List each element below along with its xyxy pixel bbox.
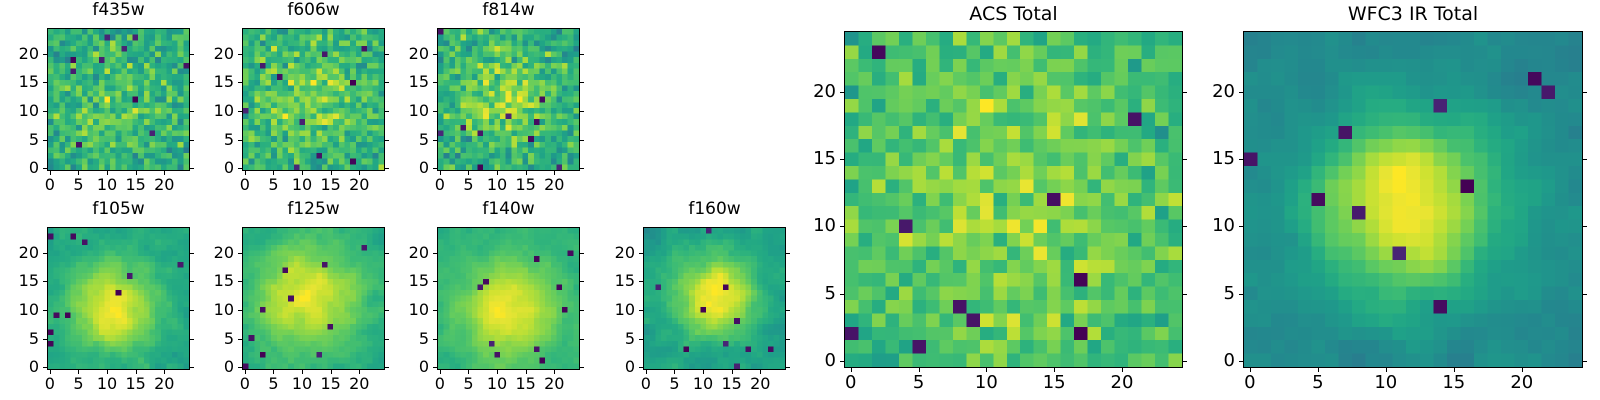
y-axis-tick: [433, 253, 437, 254]
y-axis-tick-label: 0: [1197, 352, 1235, 370]
y-axis-tick-label: 0: [391, 160, 429, 176]
x-axis-tick-label: 20: [154, 376, 174, 392]
x-axis-tick-label: 10: [693, 376, 713, 392]
x-axis-tick-label: 15: [320, 177, 340, 193]
heatmap-canvas: [438, 29, 579, 170]
y-axis-tick-label: 0: [196, 160, 234, 176]
y-axis-tick-label: 15: [1, 74, 39, 90]
y-axis-tick: [639, 281, 643, 282]
y-axis-tick-label: 10: [1, 302, 39, 318]
y-axis-tick: [238, 140, 242, 141]
y-axis-tick: [840, 226, 844, 227]
x-axis-tick-label: 15: [515, 177, 535, 193]
x-axis-tick-label: 10: [97, 177, 117, 193]
x-axis-tick-label: 10: [487, 177, 507, 193]
x-axis-tick-label: 0: [240, 376, 250, 392]
y-axis-tick: [840, 92, 844, 93]
heatmap-panel-f125w: f125w0510152005101520: [196, 201, 391, 396]
y-axis-tick: [639, 339, 643, 340]
y-axis-tick-right: [786, 367, 790, 368]
panel-title: f435w: [47, 2, 190, 19]
x-axis-tick-label: 15: [1043, 374, 1066, 392]
heatmap-canvas: [243, 29, 384, 170]
y-axis-tick: [43, 140, 47, 141]
y-axis-tick: [238, 281, 242, 282]
panel-title: f160w: [643, 201, 786, 218]
y-axis-tick-right: [385, 367, 389, 368]
heatmap-panel-wfc3-ir-total: WFC3 IR Total0510152005101520: [1197, 5, 1589, 394]
x-axis-tick-label: 20: [1111, 374, 1134, 392]
heatmap-image: [47, 227, 190, 370]
y-axis-tick: [1239, 294, 1243, 295]
heatmap-image: [242, 227, 385, 370]
y-axis-tick: [43, 310, 47, 311]
heatmap-canvas: [1244, 32, 1582, 367]
y-axis-tick-right: [190, 367, 194, 368]
heatmap-image: [242, 28, 385, 171]
y-axis-tick: [238, 82, 242, 83]
x-axis-tick-label: 0: [435, 177, 445, 193]
y-axis-tick-label: 5: [1, 331, 39, 347]
x-axis-tick-label: 5: [73, 177, 83, 193]
y-axis-tick: [1239, 159, 1243, 160]
y-axis-tick-label: 10: [196, 103, 234, 119]
y-axis-tick: [1239, 92, 1243, 93]
y-axis-tick-label: 20: [196, 245, 234, 261]
y-axis-tick: [433, 168, 437, 169]
y-axis-tick-label: 5: [196, 331, 234, 347]
y-axis-tick-label: 15: [1, 273, 39, 289]
y-axis-tick: [43, 253, 47, 254]
y-axis-tick: [43, 82, 47, 83]
heatmap-canvas: [243, 228, 384, 369]
y-axis-tick-label: 20: [1, 46, 39, 62]
heatmap-panel-f140w: f140w0510152005101520: [391, 201, 586, 396]
y-axis-tick-right: [786, 281, 790, 282]
x-axis-tick-label: 5: [463, 376, 473, 392]
y-axis-tick: [43, 367, 47, 368]
x-axis-tick-label: 15: [125, 177, 145, 193]
y-axis-tick-right: [190, 339, 194, 340]
y-axis-tick-right: [580, 253, 584, 254]
heatmap-image: [437, 28, 580, 171]
y-axis-tick: [433, 140, 437, 141]
y-axis-tick: [1239, 226, 1243, 227]
heatmap-panel-f105w: f105w0510152005101520: [1, 201, 196, 396]
x-axis-tick-label: 10: [292, 177, 312, 193]
y-axis-tick-label: 0: [1, 359, 39, 375]
y-axis-tick-right: [385, 281, 389, 282]
panel-title: ACS Total: [844, 5, 1183, 24]
x-axis-tick-label: 0: [45, 177, 55, 193]
y-axis-tick-right: [190, 310, 194, 311]
y-axis-tick-right: [190, 253, 194, 254]
y-axis-tick: [840, 361, 844, 362]
y-axis-tick: [238, 339, 242, 340]
heatmap-panel-f160w: f160w0510152005101520: [597, 201, 792, 396]
y-axis-tick-right: [190, 140, 194, 141]
y-axis-tick-right: [385, 310, 389, 311]
x-axis-tick-label: 20: [154, 177, 174, 193]
y-axis-tick-label: 0: [798, 352, 836, 370]
x-axis-tick-label: 5: [913, 374, 924, 392]
y-axis-tick: [433, 82, 437, 83]
y-axis-tick-label: 0: [1, 160, 39, 176]
y-axis-tick: [433, 310, 437, 311]
panel-title: f105w: [47, 201, 190, 218]
y-axis-tick-label: 10: [1, 103, 39, 119]
y-axis-tick: [43, 281, 47, 282]
heatmap-canvas: [644, 228, 785, 369]
heatmap-image: [844, 31, 1183, 368]
y-axis-tick-label: 5: [1, 132, 39, 148]
y-axis-tick-label: 5: [391, 331, 429, 347]
y-axis-tick-right: [190, 82, 194, 83]
y-axis-tick: [433, 281, 437, 282]
y-axis-tick-label: 20: [1197, 83, 1235, 101]
y-axis-tick: [639, 253, 643, 254]
y-axis-tick-right: [385, 253, 389, 254]
y-axis-tick-label: 5: [196, 132, 234, 148]
y-axis-tick-right: [580, 111, 584, 112]
y-axis-tick-label: 15: [391, 273, 429, 289]
y-axis-tick-label: 20: [391, 245, 429, 261]
heatmap-image: [643, 227, 786, 370]
y-axis-tick-right: [1183, 294, 1187, 295]
y-axis-tick-right: [580, 367, 584, 368]
y-axis-tick-right: [385, 140, 389, 141]
heatmap-image: [47, 28, 190, 171]
heatmap-canvas: [48, 29, 189, 170]
y-axis-tick-right: [580, 140, 584, 141]
figure-canvas: f435w0510152005101520f606w05101520051015…: [0, 0, 1600, 400]
y-axis-tick: [433, 367, 437, 368]
heatmap-panel-f814w: f814w0510152005101520: [391, 2, 586, 197]
y-axis-tick-right: [190, 111, 194, 112]
x-axis-tick-label: 0: [641, 376, 651, 392]
y-axis-tick-label: 5: [391, 132, 429, 148]
y-axis-tick: [433, 54, 437, 55]
panel-title: f125w: [242, 201, 385, 218]
y-axis-tick-label: 10: [597, 302, 635, 318]
x-axis-tick-label: 10: [975, 374, 998, 392]
y-axis-tick: [43, 339, 47, 340]
y-axis-tick-right: [385, 168, 389, 169]
y-axis-tick-right: [1583, 226, 1587, 227]
x-axis-tick-label: 15: [721, 376, 741, 392]
y-axis-tick-right: [385, 54, 389, 55]
y-axis-tick: [238, 310, 242, 311]
y-axis-tick-label: 20: [391, 46, 429, 62]
x-axis-tick-label: 0: [45, 376, 55, 392]
y-axis-tick: [238, 253, 242, 254]
y-axis-tick-label: 5: [597, 331, 635, 347]
x-axis-tick-label: 5: [1312, 374, 1323, 392]
y-axis-tick-right: [786, 310, 790, 311]
y-axis-tick-right: [385, 82, 389, 83]
x-axis-tick-label: 20: [750, 376, 770, 392]
y-axis-tick-right: [580, 54, 584, 55]
heatmap-canvas: [438, 228, 579, 369]
x-axis-tick-label: 5: [669, 376, 679, 392]
y-axis-tick-right: [1583, 361, 1587, 362]
y-axis-tick: [433, 111, 437, 112]
y-axis-tick-right: [1583, 159, 1587, 160]
y-axis-tick-right: [580, 82, 584, 83]
heatmap-panel-f435w: f435w0510152005101520: [1, 2, 196, 197]
y-axis-tick-right: [190, 54, 194, 55]
x-axis-tick-label: 10: [97, 376, 117, 392]
y-axis-tick-right: [580, 168, 584, 169]
y-axis-tick: [840, 159, 844, 160]
y-axis-tick: [639, 310, 643, 311]
y-axis-tick-label: 10: [196, 302, 234, 318]
y-axis-tick-label: 15: [597, 273, 635, 289]
y-axis-tick-label: 20: [597, 245, 635, 261]
y-axis-tick-right: [580, 281, 584, 282]
y-axis-tick-label: 5: [1197, 285, 1235, 303]
y-axis-tick-right: [580, 339, 584, 340]
x-axis-tick-label: 15: [1442, 374, 1465, 392]
y-axis-tick-label: 10: [798, 217, 836, 235]
y-axis-tick: [840, 294, 844, 295]
y-axis-tick: [43, 54, 47, 55]
x-axis-tick-label: 0: [845, 374, 856, 392]
y-axis-tick-label: 15: [391, 74, 429, 90]
heatmap-panel-f606w: f606w0510152005101520: [196, 2, 391, 197]
heatmap-panel-acs-total: ACS Total0510152005101520: [798, 5, 1189, 394]
panel-title: f606w: [242, 2, 385, 19]
y-axis-tick-label: 10: [391, 302, 429, 318]
y-axis-tick-label: 0: [597, 359, 635, 375]
y-axis-tick-right: [1183, 226, 1187, 227]
x-axis-tick-label: 15: [515, 376, 535, 392]
x-axis-tick-label: 10: [1374, 374, 1397, 392]
y-axis-tick: [238, 111, 242, 112]
x-axis-tick-label: 5: [73, 376, 83, 392]
x-axis-tick-label: 0: [1244, 374, 1255, 392]
y-axis-tick: [238, 168, 242, 169]
y-axis-tick-right: [1183, 92, 1187, 93]
y-axis-tick-label: 15: [196, 273, 234, 289]
y-axis-tick-right: [385, 111, 389, 112]
panel-title: f814w: [437, 2, 580, 19]
y-axis-tick: [43, 168, 47, 169]
y-axis-tick-label: 10: [1197, 217, 1235, 235]
y-axis-tick-right: [385, 339, 389, 340]
y-axis-tick: [1239, 361, 1243, 362]
y-axis-tick-right: [190, 281, 194, 282]
heatmap-canvas: [48, 228, 189, 369]
y-axis-tick-label: 15: [798, 150, 836, 168]
x-axis-tick-label: 10: [487, 376, 507, 392]
y-axis-tick-label: 0: [391, 359, 429, 375]
y-axis-tick: [433, 339, 437, 340]
y-axis-tick-right: [580, 310, 584, 311]
y-axis-tick-label: 0: [196, 359, 234, 375]
y-axis-tick: [43, 111, 47, 112]
y-axis-tick: [238, 367, 242, 368]
y-axis-tick-right: [190, 168, 194, 169]
x-axis-tick-label: 20: [1510, 374, 1533, 392]
y-axis-tick-right: [1183, 361, 1187, 362]
y-axis-tick-label: 20: [798, 83, 836, 101]
y-axis-tick-label: 20: [1, 245, 39, 261]
x-axis-tick-label: 20: [544, 376, 564, 392]
x-axis-tick-label: 10: [292, 376, 312, 392]
x-axis-tick-label: 20: [349, 376, 369, 392]
x-axis-tick-label: 5: [268, 376, 278, 392]
y-axis-tick-right: [1583, 294, 1587, 295]
x-axis-tick-label: 0: [435, 376, 445, 392]
y-axis-tick-label: 15: [196, 74, 234, 90]
panel-title: f140w: [437, 201, 580, 218]
y-axis-tick-right: [786, 339, 790, 340]
x-axis-tick-label: 5: [463, 177, 473, 193]
y-axis-tick-label: 15: [1197, 150, 1235, 168]
y-axis-tick: [639, 367, 643, 368]
heatmap-image: [1243, 31, 1583, 368]
x-axis-tick-label: 15: [320, 376, 340, 392]
panel-title: WFC3 IR Total: [1243, 5, 1583, 24]
y-axis-tick-label: 5: [798, 285, 836, 303]
y-axis-tick-label: 10: [391, 103, 429, 119]
y-axis-tick: [238, 54, 242, 55]
x-axis-tick-label: 20: [349, 177, 369, 193]
y-axis-tick-right: [786, 253, 790, 254]
x-axis-tick-label: 5: [268, 177, 278, 193]
x-axis-tick-label: 15: [125, 376, 145, 392]
x-axis-tick-label: 0: [240, 177, 250, 193]
heatmap-canvas: [845, 32, 1182, 367]
y-axis-tick-right: [1183, 159, 1187, 160]
y-axis-tick-label: 20: [196, 46, 234, 62]
y-axis-tick-right: [1583, 92, 1587, 93]
x-axis-tick-label: 20: [544, 177, 564, 193]
heatmap-image: [437, 227, 580, 370]
